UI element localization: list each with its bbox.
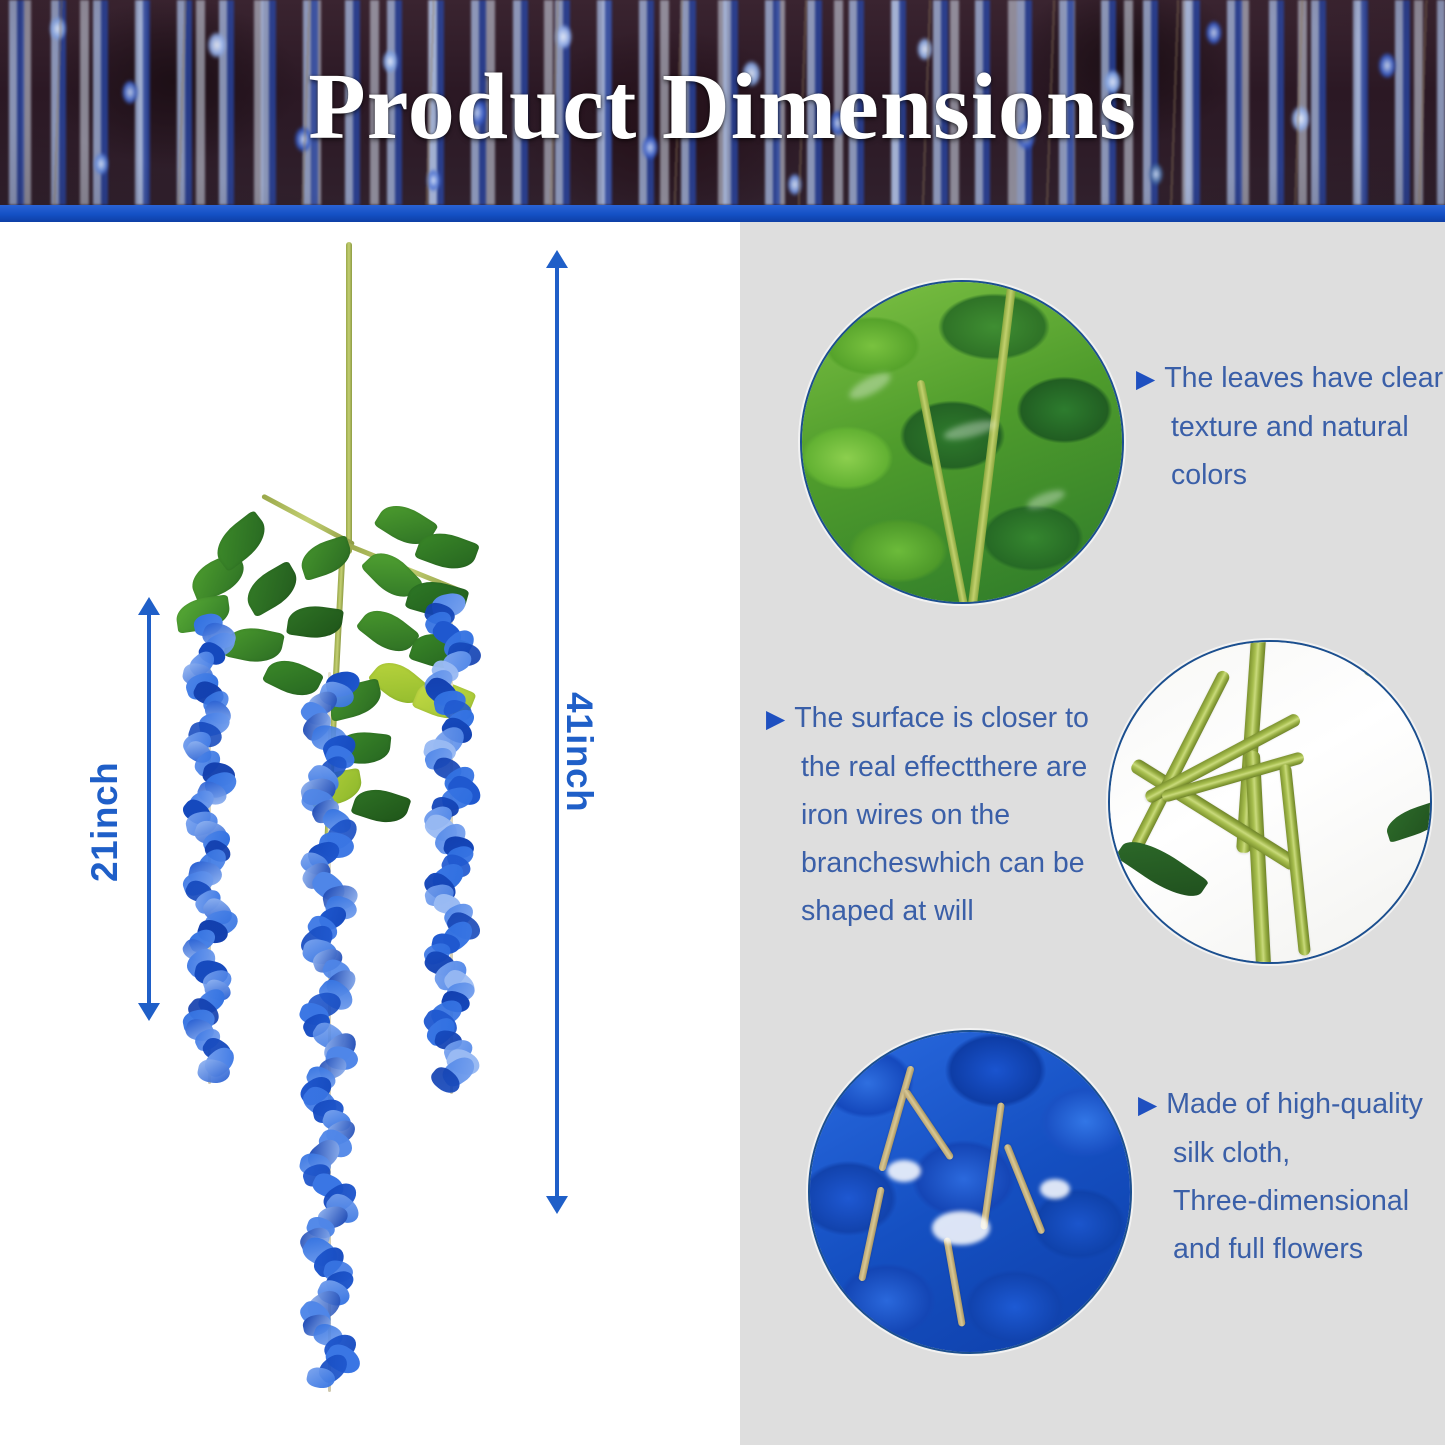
product-features-panel: ▶The leaves have clear texture and natur… bbox=[740, 222, 1445, 1445]
feature-3-line-1: Made of high-quality bbox=[1166, 1088, 1423, 1120]
dim-21-line bbox=[147, 613, 151, 1003]
feature-1-line-3: colors bbox=[1136, 451, 1443, 499]
leaves-closeup-circle bbox=[800, 280, 1124, 604]
flowers-photo bbox=[810, 1032, 1130, 1352]
photo-flower-stem bbox=[943, 1237, 965, 1326]
leaves-photo bbox=[802, 282, 1122, 602]
leaf-highlight bbox=[1025, 487, 1067, 513]
flower-strand-right bbox=[422, 594, 486, 1094]
feature-1-line-1: The leaves have clear bbox=[1164, 362, 1443, 394]
flowers-closeup-circle bbox=[808, 1030, 1132, 1354]
feature-2-line-5: shaped at will bbox=[766, 887, 1089, 935]
photo-flower-stem bbox=[980, 1103, 1005, 1231]
feature-3-line-2: silk cloth, bbox=[1138, 1129, 1423, 1177]
bullet-triangle-icon: ▶ bbox=[1138, 1091, 1157, 1119]
page-title: Product Dimensions bbox=[0, 60, 1445, 154]
feature-2-line-3: iron wires on the bbox=[766, 791, 1089, 839]
feature-text-1: ▶The leaves have clear texture and natur… bbox=[1136, 354, 1443, 499]
bullet-triangle-icon: ▶ bbox=[1136, 365, 1155, 393]
petal-highlight bbox=[1040, 1179, 1070, 1199]
dim-41-arrow-bottom bbox=[546, 1196, 568, 1214]
stems-photo bbox=[1110, 642, 1430, 962]
product-image bbox=[150, 242, 580, 1362]
petal-highlight bbox=[887, 1160, 921, 1182]
photo-stem bbox=[967, 280, 1018, 604]
photo-flower-stem bbox=[858, 1186, 885, 1281]
feature-2-line-1: The surface is closer to bbox=[794, 702, 1089, 734]
photo-leaf bbox=[1363, 648, 1432, 702]
flower-strand-center bbox=[300, 672, 364, 1392]
product-dimensions-panel: 21inch 41inch bbox=[0, 222, 740, 1445]
dim-21-label: 21inch bbox=[84, 762, 126, 882]
photo-flower-stem bbox=[903, 1088, 955, 1161]
feature-text-2: ▶The surface is closer to the real effec… bbox=[766, 694, 1089, 935]
header-banner: Product Dimensions bbox=[0, 0, 1445, 205]
leaf-highlight bbox=[846, 368, 894, 404]
photo-leaf bbox=[1115, 830, 1209, 908]
main-stem bbox=[346, 242, 352, 554]
feature-text-3: ▶Made of high-quality silk cloth, Three-… bbox=[1138, 1080, 1423, 1273]
dim-41-label: 41inch bbox=[558, 692, 600, 812]
petal-highlight bbox=[932, 1211, 990, 1245]
flower-strand-left bbox=[180, 614, 244, 1084]
photo-leaf bbox=[1383, 799, 1432, 843]
header-divider-bar bbox=[0, 205, 1445, 222]
feature-2-line-2: the real effectthere are bbox=[766, 743, 1089, 791]
photo-stem bbox=[916, 380, 971, 604]
stems-closeup-circle bbox=[1108, 640, 1432, 964]
feature-3-line-4: and full flowers bbox=[1138, 1225, 1423, 1273]
product-dimensions-infographic: Product Dimensions bbox=[0, 0, 1445, 1445]
feature-1-line-2: texture and natural bbox=[1136, 403, 1443, 451]
leaf bbox=[239, 560, 304, 617]
bullet-triangle-icon: ▶ bbox=[766, 705, 785, 733]
leaf bbox=[296, 535, 355, 582]
dim-21-arrow-bottom bbox=[138, 1003, 160, 1021]
feature-2-line-4: brancheswhich can be bbox=[766, 839, 1089, 887]
photo-flower-stem bbox=[878, 1065, 915, 1172]
feature-3-line-3: Three-dimensional bbox=[1138, 1177, 1423, 1225]
